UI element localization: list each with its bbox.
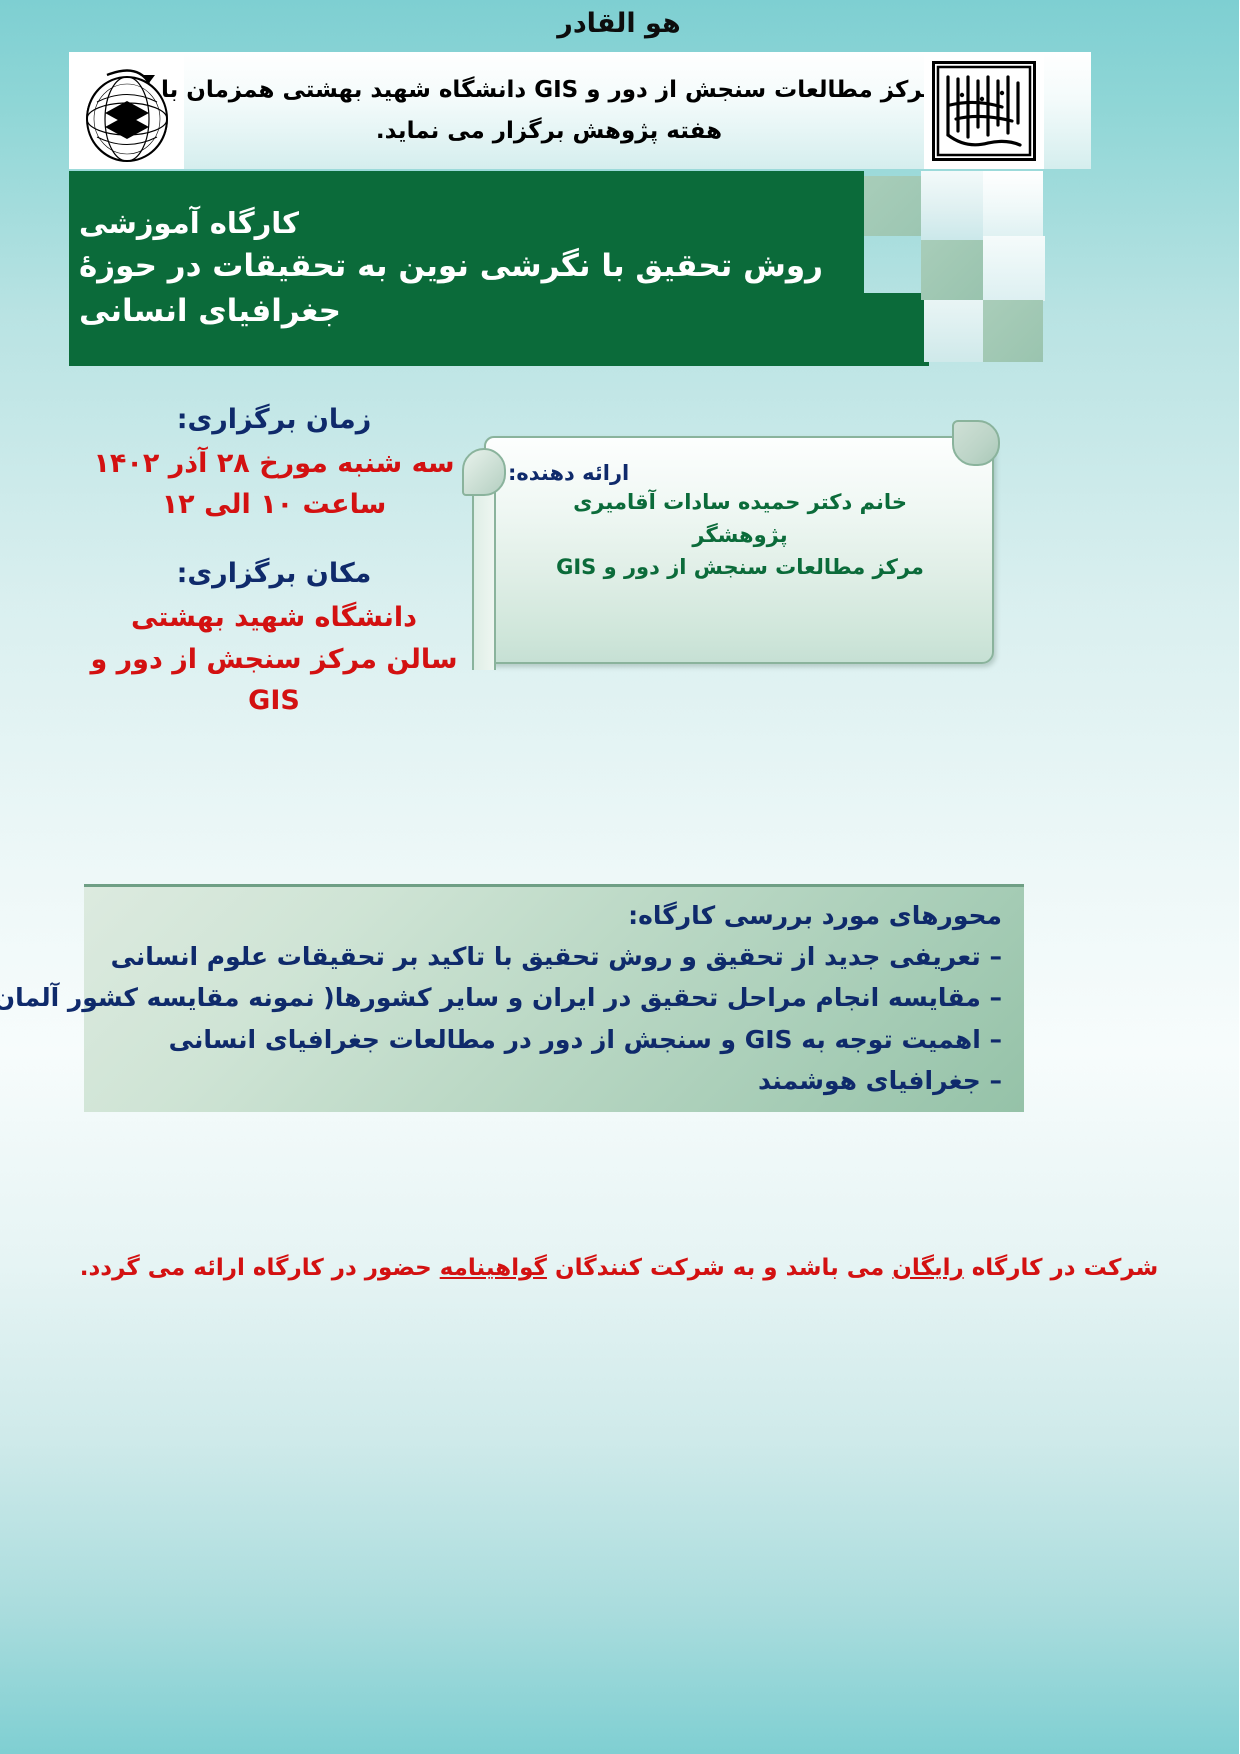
time-label: زمان برگزاری: <box>80 400 470 441</box>
footer-part-3: حضور در کارگاه ارائه می گردد. <box>81 1255 441 1281</box>
decor-square-1 <box>865 176 922 236</box>
banner-text-stack: کارگاه آموزشی روش تحقیق با نگرشی نوین به… <box>70 171 865 366</box>
header-line-1: مرکز مطالعات سنجش از دور و GIS دانشگاه ش… <box>162 77 938 103</box>
event-info-block: زمان برگزاری: سه شنبه مورخ ۲۸ آذر ۱۴۰۲ س… <box>80 400 470 722</box>
banner-title-line-2: جغرافیای انسانی <box>80 293 342 331</box>
decor-square-3 <box>984 171 1044 237</box>
footer-part-2: می باشد و به شرکت کنندگان <box>548 1255 893 1281</box>
rs-gis-society-logo <box>70 52 185 169</box>
presenter-name: خانم دکتر حمیده سادات آقامیری <box>574 486 908 519</box>
shahid-beheshti-university-logo <box>925 52 1045 169</box>
topic-item: – مقایسه انجام مراحل تحقیق در ایران و سا… <box>107 982 1003 1013</box>
header-text: مرکز مطالعات سنجش از دور و GIS دانشگاه ش… <box>185 52 915 169</box>
decor-square-5 <box>984 236 1046 301</box>
globe-icon <box>78 57 178 165</box>
presenter-label: ارائه دهنده: <box>509 462 630 485</box>
place-label: مکان برگزاری: <box>80 554 470 595</box>
decor-square-4 <box>922 240 984 300</box>
topics-title: محورهای مورد بررسی کارگاه: <box>107 901 1003 931</box>
topic-item: – جغرافیای هوشمند <box>107 1065 1003 1096</box>
scroll-left-rod <box>473 470 497 670</box>
decor-square-2 <box>922 171 984 240</box>
footer-underline-certificate: گواهینامه <box>441 1255 548 1281</box>
decor-square-6 <box>925 300 984 362</box>
decor-square-7 <box>984 300 1044 362</box>
topics-list: محورهای مورد بررسی کارگاه: – تعریفی جدید… <box>85 887 1025 1106</box>
event-hours: ساعت ۱۰ الی ۱۲ <box>80 484 470 526</box>
place-line-2: سالن مرکز سنجش از دور و GIS <box>80 639 470 723</box>
presenter-scroll: ارائه دهنده: خانم دکتر حمیده سادات آقامی… <box>455 418 1025 683</box>
presenter-role: پژوهشگر <box>693 519 788 552</box>
event-date: سه شنبه مورخ ۲۸ آذر ۱۴۰۲ <box>80 443 470 485</box>
invocation-text: هو القادر <box>0 8 1240 39</box>
info-spacer <box>80 526 470 554</box>
banner-kicker: کارگاه آموزشی <box>80 206 300 241</box>
sbu-logo-frame <box>933 61 1037 161</box>
presenter-affiliation: مرکز مطالعات سنجش از دور و GIS <box>557 551 925 584</box>
banner-title-line-1: روش تحقیق با نگرشی نوین به تحقیقات در حو… <box>80 248 824 286</box>
topic-item: – اهمیت توجه به GIS و سنجش از دور در مطا… <box>107 1024 1003 1055</box>
header-line-2: هفته پژوهش برگزار می نماید. <box>377 118 723 144</box>
calligraphy-icon <box>937 65 1033 157</box>
topic-item: – تعریفی جدید از تحقیق و روش تحقیق با تا… <box>107 941 1003 972</box>
presenter-text: ارائه دهنده: خانم دکتر حمیده سادات آقامی… <box>495 456 987 651</box>
workshop-title-banner: کارگاه آموزشی روش تحقیق با نگرشی نوین به… <box>70 171 865 366</box>
footer-part-1: شرکت در کارگاه <box>965 1255 1160 1281</box>
topics-panel: محورهای مورد بررسی کارگاه: – تعریفی جدید… <box>85 884 1025 1112</box>
footer-underline-free: رایگان <box>893 1255 964 1281</box>
place-line-1: دانشگاه شهید بهشتی <box>80 597 470 639</box>
poster-root: هو القادر مرکز مطالعات سنجش از دور و GIS… <box>0 0 1240 1754</box>
footer-note: شرکت در کارگاه رایگان می باشد و به شرکت … <box>0 1255 1240 1281</box>
